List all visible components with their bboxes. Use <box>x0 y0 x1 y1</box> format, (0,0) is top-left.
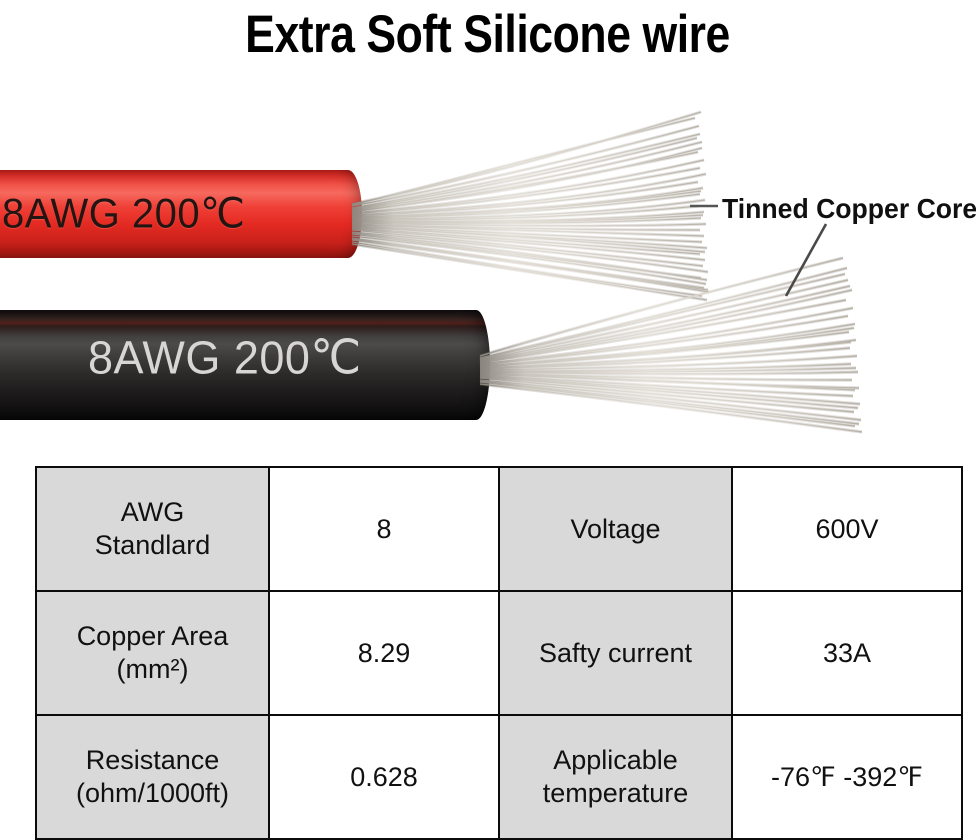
spec-value-copper-area: 8.29 <box>269 591 499 715</box>
cell-line: temperature <box>506 777 725 810</box>
spec-label-awg-standlard: AWG Standlard <box>36 467 269 591</box>
spec-value-resistance: 0.628 <box>269 715 499 839</box>
spec-label-applicable-temperature: Applicable temperature <box>499 715 732 839</box>
spec-label-voltage: Voltage <box>499 467 732 591</box>
spec-label-safty-current: Safty current <box>499 591 732 715</box>
table-row: AWG Standlard 8 Voltage 600V <box>36 467 962 591</box>
table-row: Copper Area (mm²) 8.29 Safty current 33A <box>36 591 962 715</box>
cell-line: Voltage <box>506 513 725 546</box>
page-title: Extra Soft Silicone wire <box>246 2 731 68</box>
spec-label-copper-area: Copper Area (mm²) <box>36 591 269 715</box>
spec-label-resistance: Resistance (ohm/1000ft) <box>36 715 269 839</box>
spec-value-applicable-temperature: -76℉ -392℉ <box>732 715 962 839</box>
tinned-copper-core-callout: Tinned Copper Core <box>722 192 976 226</box>
cell-line: AWG <box>43 496 262 529</box>
spec-value-voltage: 600V <box>732 467 962 591</box>
table-row: Resistance (ohm/1000ft) 0.628 Applicable… <box>36 715 962 839</box>
spec-value-safty-current: 33A <box>732 591 962 715</box>
cell-line: (mm²) <box>43 653 262 686</box>
product-photo: 8AWG 200℃ 8AWG 200℃ <box>0 72 976 440</box>
cell-line: Standlard <box>43 529 262 562</box>
cell-line: Resistance <box>43 744 262 777</box>
cell-line: Copper Area <box>43 620 262 653</box>
cell-line: Applicable <box>506 744 725 777</box>
tinned-copper-strands <box>0 72 976 440</box>
specification-table: AWG Standlard 8 Voltage 600V Copper Area… <box>35 466 963 840</box>
spec-value-awg-standlard: 8 <box>269 467 499 591</box>
cell-line: (ohm/1000ft) <box>43 777 262 810</box>
cell-line: Safty current <box>506 637 725 670</box>
title-bar: Extra Soft Silicone wire <box>0 2 976 70</box>
